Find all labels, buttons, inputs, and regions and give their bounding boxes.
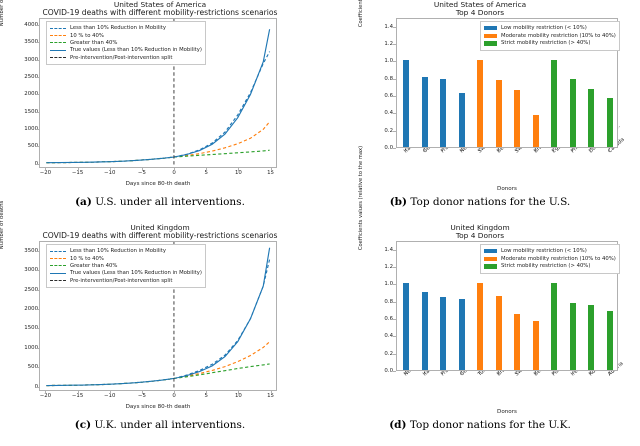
x-tick-mark xyxy=(206,391,207,394)
panel-a: United States of America COVID-19 deaths… xyxy=(0,0,320,223)
x-axis-label: Donors xyxy=(396,186,618,192)
y-tick-label: 3000 xyxy=(0,57,38,63)
legend-item[interactable]: Moderate mobility restriction (10% to 40… xyxy=(484,255,616,263)
bar[interactable] xyxy=(496,80,502,147)
bar[interactable] xyxy=(551,283,557,370)
y-tick-label: 1.2 xyxy=(353,41,393,47)
y-tick-label: 500 xyxy=(0,143,38,149)
legend-item[interactable]: Pre-intervention/Post-intervention split xyxy=(50,54,202,61)
chart-title-line2: Top 4 Donors xyxy=(320,232,640,241)
legend: Less than 10% Reduction in Mobility10 % … xyxy=(46,244,206,288)
y-tick-label: 3500 xyxy=(0,248,38,254)
caption-a-tag: (a) xyxy=(75,196,92,208)
y-tick-label: 1000 xyxy=(0,126,38,132)
legend-label: 10 % to 40% xyxy=(70,33,104,39)
y-tick-label: 0.2 xyxy=(353,351,393,357)
panel-d: United Kingdom Top 4 Donors Coefficients… xyxy=(320,223,640,446)
y-tick-label: 0.2 xyxy=(353,128,393,134)
series-dashed xyxy=(46,364,269,386)
legend-item[interactable]: Pre-intervention/Post-intervention split xyxy=(50,277,202,284)
legend-label: Low mobility restriction (< 10%) xyxy=(501,25,587,31)
x-axis-label: Days since 80-th death xyxy=(39,181,277,187)
x-tick-mark xyxy=(174,391,175,394)
x-tick-mark xyxy=(142,391,143,394)
bar[interactable] xyxy=(422,292,428,370)
legend-label: Moderate mobility restriction (10% to 40… xyxy=(501,256,616,262)
y-tick-label: 1.0 xyxy=(353,58,393,64)
y-tick-label: 0.0 xyxy=(353,368,393,374)
x-tick-mark xyxy=(78,168,79,171)
chart-title-line2: Top 4 Donors xyxy=(320,9,640,18)
legend: Low mobility restriction (< 10%)Moderate… xyxy=(480,244,620,274)
x-tick-mark xyxy=(142,168,143,171)
legend-swatch-icon xyxy=(484,41,497,45)
x-tick-mark xyxy=(110,168,111,171)
legend: Less than 10% Reduction in Mobility10 % … xyxy=(46,21,206,65)
legend-swatch-icon xyxy=(484,249,497,253)
chart-title-line2: COVID-19 deaths with different mobility-… xyxy=(0,232,320,241)
caption-a-text: U.S. under all interventions. xyxy=(95,196,245,208)
legend-label: Moderate mobility restriction (10% to 40… xyxy=(501,33,616,39)
bar[interactable] xyxy=(588,89,594,147)
caption-c: (c) U.K. under all interventions. xyxy=(0,419,320,431)
y-tick-label: 1500 xyxy=(0,325,38,331)
y-tick-label: 0 xyxy=(0,384,38,390)
bar[interactable] xyxy=(459,299,465,370)
legend-item[interactable]: True values (Less than 10% Reduction in … xyxy=(50,47,202,54)
series-dashed xyxy=(46,150,269,163)
legend-item[interactable]: Less than 10% Reduction in Mobility xyxy=(50,248,202,255)
legend-swatch-icon xyxy=(484,26,497,30)
legend-label: Strict mobility restriction (> 40%) xyxy=(501,40,590,46)
caption-d-tag: (d) xyxy=(389,419,406,431)
bar[interactable] xyxy=(514,90,520,147)
legend-item[interactable]: Low mobility restriction (< 10%) xyxy=(484,25,616,33)
y-tick-label: 2000 xyxy=(0,306,38,312)
legend-label: Greater than 40% xyxy=(70,40,117,46)
y-tick-label: 1500 xyxy=(0,109,38,115)
x-tick-mark xyxy=(271,391,272,394)
legend-item[interactable]: Strict mobility restriction (> 40%) xyxy=(484,263,616,271)
legend-label: Pre-intervention/Post-intervention split xyxy=(70,278,172,284)
legend-label: Low mobility restriction (< 10%) xyxy=(501,248,587,254)
bar[interactable] xyxy=(551,60,557,147)
y-tick-label: 1.0 xyxy=(353,281,393,287)
y-tick-label: 0.6 xyxy=(353,93,393,99)
caption-c-tag: (c) xyxy=(75,419,91,431)
bar[interactable] xyxy=(570,303,576,370)
panel-b: United States of America Top 4 Donors Co… xyxy=(320,0,640,223)
bar[interactable] xyxy=(440,79,446,147)
x-tick-mark xyxy=(174,168,175,171)
legend-swatch-icon xyxy=(50,251,66,252)
legend-swatch-icon xyxy=(50,265,66,266)
legend-swatch-icon xyxy=(50,35,66,36)
figure-page: United States of America COVID-19 deaths… xyxy=(0,0,640,446)
y-tick-label: 1.4 xyxy=(353,247,393,253)
bar-chart-uk-donors: United Kingdom Top 4 Donors Coefficients… xyxy=(320,223,640,419)
legend-label: True values (Less than 10% Reduction in … xyxy=(70,270,202,276)
series-dashed xyxy=(46,122,269,163)
caption-d-text: Top donor nations for the U.K. xyxy=(410,419,571,431)
legend-item[interactable]: Strict mobility restriction (> 40%) xyxy=(484,40,616,48)
legend-swatch-icon xyxy=(50,57,66,58)
y-tick-label: 3000 xyxy=(0,267,38,273)
legend-swatch-icon xyxy=(50,50,66,51)
y-tick-label: 0.8 xyxy=(353,299,393,305)
series-dashed xyxy=(46,52,269,163)
y-tick-label: 1.2 xyxy=(353,264,393,270)
y-tick-label: 2500 xyxy=(0,74,38,80)
legend-item[interactable]: Less than 10% Reduction in Mobility xyxy=(50,25,202,32)
legend-swatch-icon xyxy=(484,257,497,261)
bar[interactable] xyxy=(403,283,409,370)
bar[interactable] xyxy=(607,98,613,147)
bar[interactable] xyxy=(459,93,465,147)
legend-item[interactable]: 10 % to 40% xyxy=(50,32,202,39)
x-tick-mark xyxy=(238,391,239,394)
x-axis-label: Donors xyxy=(396,409,618,415)
line-chart-uk: United Kingdom COVID-19 deaths with diff… xyxy=(0,223,320,419)
y-tick-label: 0.4 xyxy=(353,110,393,116)
series-dashed xyxy=(46,342,269,386)
caption-a: (a) U.S. under all interventions. xyxy=(0,196,320,208)
legend-label: 10 % to 40% xyxy=(70,256,104,262)
y-axis-label: Number of deaths xyxy=(0,175,5,275)
legend: Low mobility restriction (< 10%)Moderate… xyxy=(480,21,620,51)
bar[interactable] xyxy=(422,77,428,147)
legend-swatch-icon xyxy=(50,280,66,281)
y-tick-label: 0.8 xyxy=(353,76,393,82)
legend-item[interactable]: Low mobility restriction (< 10%) xyxy=(484,248,616,256)
bar[interactable] xyxy=(477,60,483,147)
y-tick-label: 3500 xyxy=(0,39,38,45)
legend-swatch-icon xyxy=(50,258,66,259)
bar-chart-us-donors: United States of America Top 4 Donors Co… xyxy=(320,0,640,196)
legend-swatch-icon xyxy=(484,264,497,268)
y-tick-mark xyxy=(393,148,396,149)
caption-d: (d) Top donor nations for the U.K. xyxy=(320,419,640,431)
caption-b-tag: (b) xyxy=(390,196,407,208)
x-tick-mark xyxy=(271,168,272,171)
caption-b: (b) Top donor nations for the U.S. xyxy=(320,196,640,208)
x-axis-label: Days since 80-th death xyxy=(39,404,277,410)
x-tick-mark xyxy=(45,391,46,394)
caption-b-text: Top donor nations for the U.S. xyxy=(410,196,570,208)
legend-label: Less than 10% Reduction in Mobility xyxy=(70,248,166,254)
legend-item[interactable]: Greater than 40% xyxy=(50,39,202,46)
y-tick-label: 0.4 xyxy=(353,333,393,339)
legend-swatch-icon xyxy=(50,28,66,29)
x-tick-mark xyxy=(238,168,239,171)
legend-swatch-icon xyxy=(484,34,497,38)
y-tick-label: 0.6 xyxy=(353,316,393,322)
bar[interactable] xyxy=(607,311,613,370)
bar[interactable] xyxy=(403,60,409,147)
legend-label: Pre-intervention/Post-intervention split xyxy=(70,55,172,61)
legend-label: True values (Less than 10% Reduction in … xyxy=(70,47,202,53)
legend-label: Greater than 40% xyxy=(70,263,117,269)
bar[interactable] xyxy=(440,297,446,370)
legend-label: Strict mobility restriction (> 40%) xyxy=(501,263,590,269)
legend-item[interactable]: Greater than 40% xyxy=(50,262,202,269)
legend-swatch-icon xyxy=(50,273,66,274)
y-tick-label: 4000 xyxy=(0,22,38,28)
bar[interactable] xyxy=(588,305,594,370)
chart-title-line2: COVID-19 deaths with different mobility-… xyxy=(0,9,320,18)
bar[interactable] xyxy=(514,314,520,370)
y-tick-label: 500 xyxy=(0,364,38,370)
y-tick-label: 1.4 xyxy=(353,24,393,30)
line-chart-us: United States of America COVID-19 deaths… xyxy=(0,0,320,196)
bar[interactable] xyxy=(533,115,539,147)
y-tick-label: 1000 xyxy=(0,345,38,351)
x-tick-mark xyxy=(78,391,79,394)
bar[interactable] xyxy=(477,283,483,370)
bar[interactable] xyxy=(496,296,502,370)
x-tick-mark xyxy=(206,168,207,171)
y-tick-label: 0 xyxy=(0,161,38,167)
y-tick-label: 2500 xyxy=(0,287,38,293)
y-tick-label: 2000 xyxy=(0,91,38,97)
y-tick-mark xyxy=(393,371,396,372)
y-axis-label: Coefficients values (relative to the max… xyxy=(358,140,364,256)
x-tick-mark xyxy=(110,391,111,394)
panel-c: United Kingdom COVID-19 deaths with diff… xyxy=(0,223,320,446)
legend-item[interactable]: Moderate mobility restriction (10% to 40… xyxy=(484,32,616,40)
legend-label: Less than 10% Reduction in Mobility xyxy=(70,25,166,31)
x-tick-mark xyxy=(45,168,46,171)
caption-c-text: U.K. under all interventions. xyxy=(94,419,245,431)
legend-item[interactable]: 10 % to 40% xyxy=(50,255,202,262)
legend-swatch-icon xyxy=(50,42,66,43)
bar[interactable] xyxy=(533,321,539,370)
legend-item[interactable]: True values (Less than 10% Reduction in … xyxy=(50,270,202,277)
bar[interactable] xyxy=(570,79,576,147)
